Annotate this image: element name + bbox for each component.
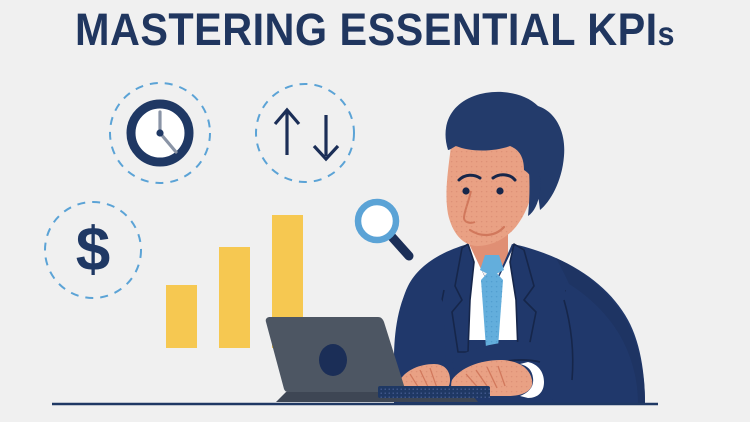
illustration-canvas: MASTERING ESSENTIAL KPIs $ (0, 0, 750, 422)
desk-layer (0, 0, 750, 422)
